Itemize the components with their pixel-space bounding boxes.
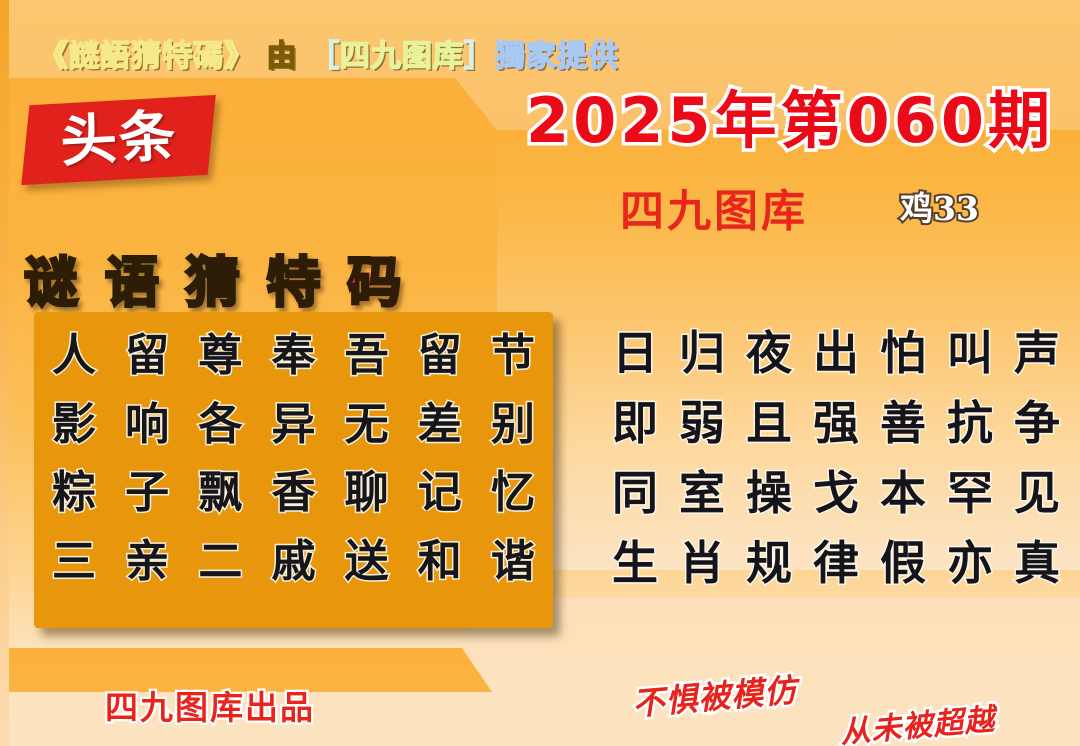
poem-char: 律	[813, 535, 859, 593]
poem-char: 见	[1014, 465, 1060, 523]
riddle-char: 三	[52, 532, 96, 593]
poster-canvas: 《謎語猜特碼》 由 ［四九图库］獨家提供 头条 2025年第060期 四九图库 …	[0, 0, 1080, 746]
riddle-char: 节	[491, 326, 535, 387]
riddle-char: 记	[418, 463, 462, 524]
riddle-char: 飘	[198, 463, 242, 524]
riddle-char: 二	[198, 532, 242, 593]
poem-char: 争	[1014, 395, 1060, 453]
poem-block: 日 归 夜 出 怕 叫 声 即 弱 且 强 善 抗 争 同 室 操 戈 本 罕 …	[612, 325, 1060, 605]
poem-char: 本	[880, 465, 926, 523]
headline-char-4: 特	[266, 238, 324, 317]
poem-char: 归	[679, 325, 725, 383]
banner-seg-close-square: ］	[464, 31, 495, 75]
poem-char: 强	[813, 395, 859, 453]
poem-char: 声	[1014, 325, 1060, 383]
riddle-char: 差	[418, 395, 462, 456]
riddle-char: 留	[418, 326, 462, 387]
poem-char: 戈	[813, 465, 859, 523]
riddle-line: 人 留 尊 奉 吾 留 节	[34, 326, 553, 387]
banner-seg-title: 謎語猜特碼	[69, 31, 224, 75]
poem-line: 即 弱 且 强 善 抗 争	[612, 395, 1060, 453]
riddle-line: 影 响 各 异 无 差 别	[34, 395, 553, 456]
poem-char: 生	[612, 535, 658, 593]
headline-char-3: 猜	[186, 238, 244, 317]
poem-char: 出	[813, 325, 859, 383]
toutiao-badge-label: 头条	[58, 109, 178, 171]
riddle-char: 忆	[491, 463, 535, 524]
riddle-char: 和	[418, 532, 462, 593]
poem-line: 生 肖 规 律 假 亦 真	[612, 535, 1060, 593]
headline-char-5: 码	[347, 238, 405, 317]
poem-char: 且	[746, 395, 792, 453]
toutiao-badge: 头条	[21, 95, 216, 185]
riddle-char: 谐	[491, 532, 535, 593]
riddle-char: 各	[198, 395, 242, 456]
poem-char: 室	[679, 465, 725, 523]
riddle-char: 戚	[271, 532, 315, 593]
poem-char: 抗	[947, 395, 993, 453]
riddle-line: 三 亲 二 戚 送 和 谐	[34, 532, 553, 593]
riddle-char: 无	[345, 395, 389, 456]
banner-seg-brand: 四九图库	[340, 31, 464, 75]
banner-seg-exclusive: 獨家提供	[495, 31, 619, 75]
riddle-char: 香	[271, 463, 315, 524]
poem-char: 夜	[746, 325, 792, 383]
poem-char: 罕	[947, 465, 993, 523]
riddle-line: 粽 子 飘 香 聊 记 忆	[34, 463, 553, 524]
poem-char: 善	[880, 395, 926, 453]
riddle-box: 人 留 尊 奉 吾 留 节 影 响 各 异 无 差 别 粽 子 飘 香 聊 记 …	[34, 312, 553, 628]
poem-char: 操	[746, 465, 792, 523]
banner-seg-open-square: ［	[309, 31, 340, 75]
footer-brand: 四九图库出品	[105, 681, 315, 729]
riddle-char: 聊	[345, 463, 389, 524]
poem-char: 亦	[947, 535, 993, 593]
poem-char: 即	[612, 395, 658, 453]
background-left-edge	[0, 0, 9, 746]
poem-char: 日	[612, 325, 658, 383]
poem-char: 同	[612, 465, 658, 523]
poem-char: 假	[880, 535, 926, 593]
poem-char: 肖	[679, 535, 725, 593]
poem-char: 弱	[679, 395, 725, 453]
riddle-char: 影	[52, 395, 96, 456]
poem-char: 规	[746, 535, 792, 593]
brand-title: 四九图库	[620, 175, 808, 239]
riddle-char: 送	[345, 532, 389, 593]
banner-line: 《謎語猜特碼》 由 ［四九图库］獨家提供	[38, 31, 619, 75]
riddle-char: 尊	[198, 326, 242, 387]
headline-char-1: 谜	[24, 238, 82, 317]
riddle-char: 异	[271, 395, 315, 456]
riddle-char: 响	[125, 395, 169, 456]
riddle-char: 留	[125, 326, 169, 387]
riddle-char: 亲	[125, 532, 169, 593]
riddle-char: 奉	[271, 326, 315, 387]
banner-seg-by: 由	[266, 31, 297, 75]
riddle-char: 粽	[52, 463, 96, 524]
riddle-char: 人	[52, 326, 96, 387]
poem-line: 日 归 夜 出 怕 叫 声	[612, 325, 1060, 383]
issue-title: 2025年第060期	[520, 70, 1060, 160]
poem-char: 怕	[880, 325, 926, 383]
banner-seg-open-bracket: 《	[38, 31, 69, 75]
headline-char-2: 语	[105, 238, 163, 317]
poem-char: 叫	[947, 325, 993, 383]
banner-seg-close-bracket: 》	[224, 31, 255, 75]
poem-line: 同 室 操 戈 本 罕 见	[612, 465, 1060, 523]
riddle-char: 吾	[345, 326, 389, 387]
rainbow-headline: 谜 语 猜 特 码	[24, 238, 405, 317]
riddle-char: 别	[491, 395, 535, 456]
zodiac-tag: 鸡33	[900, 182, 979, 230]
riddle-char: 子	[125, 463, 169, 524]
poem-char: 真	[1014, 535, 1060, 593]
